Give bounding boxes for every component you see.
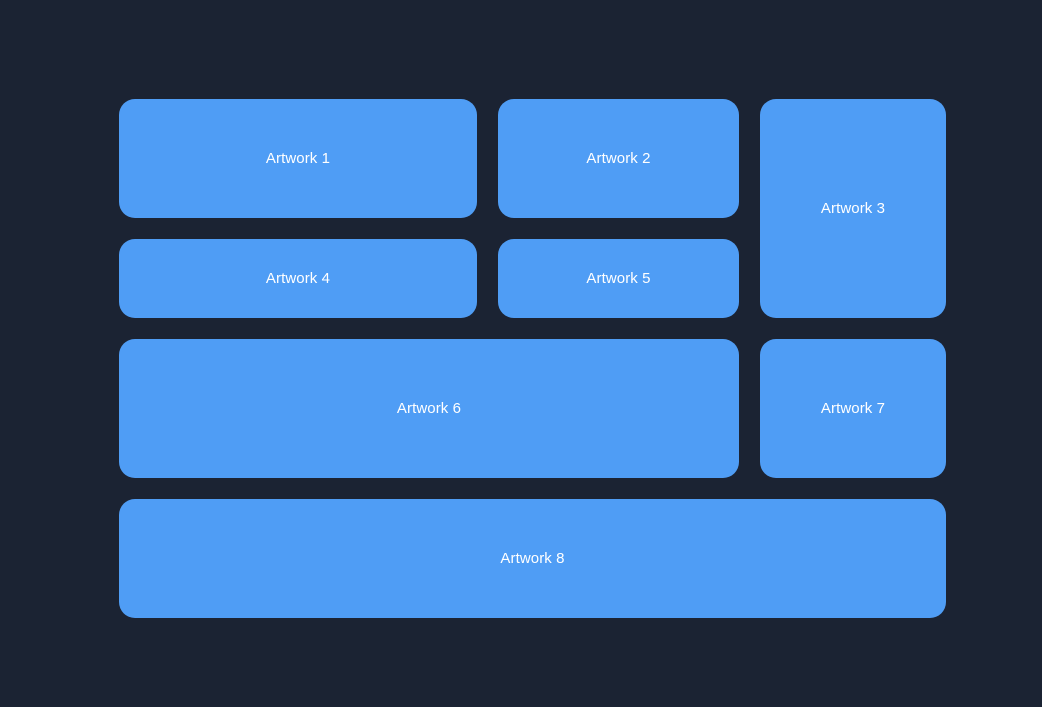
artwork-card-label: Artwork 6 — [397, 401, 461, 416]
artwork-card[interactable]: Artwork 3 — [760, 99, 946, 318]
artwork-card[interactable]: Artwork 6 — [119, 339, 739, 478]
artwork-card-label: Artwork 4 — [266, 271, 330, 286]
artwork-card[interactable]: Artwork 4 — [119, 239, 477, 318]
artwork-card-label: Artwork 8 — [500, 551, 564, 566]
artwork-card[interactable]: Artwork 8 — [119, 499, 946, 618]
gallery-root: Artwork 1 Artwork 2 Artwork 3 Artwork 4 … — [0, 0, 1042, 707]
artwork-card-label: Artwork 5 — [586, 271, 650, 286]
artwork-card[interactable]: Artwork 7 — [760, 339, 946, 478]
artwork-card[interactable]: Artwork 1 — [119, 99, 477, 218]
artwork-card[interactable]: Artwork 2 — [498, 99, 739, 218]
artwork-grid: Artwork 1 Artwork 2 Artwork 3 Artwork 4 … — [119, 99, 948, 618]
artwork-card-label: Artwork 3 — [821, 201, 885, 216]
artwork-card-label: Artwork 2 — [586, 151, 650, 166]
artwork-card-label: Artwork 1 — [266, 151, 330, 166]
artwork-card[interactable]: Artwork 5 — [498, 239, 739, 318]
artwork-card-label: Artwork 7 — [821, 401, 885, 416]
